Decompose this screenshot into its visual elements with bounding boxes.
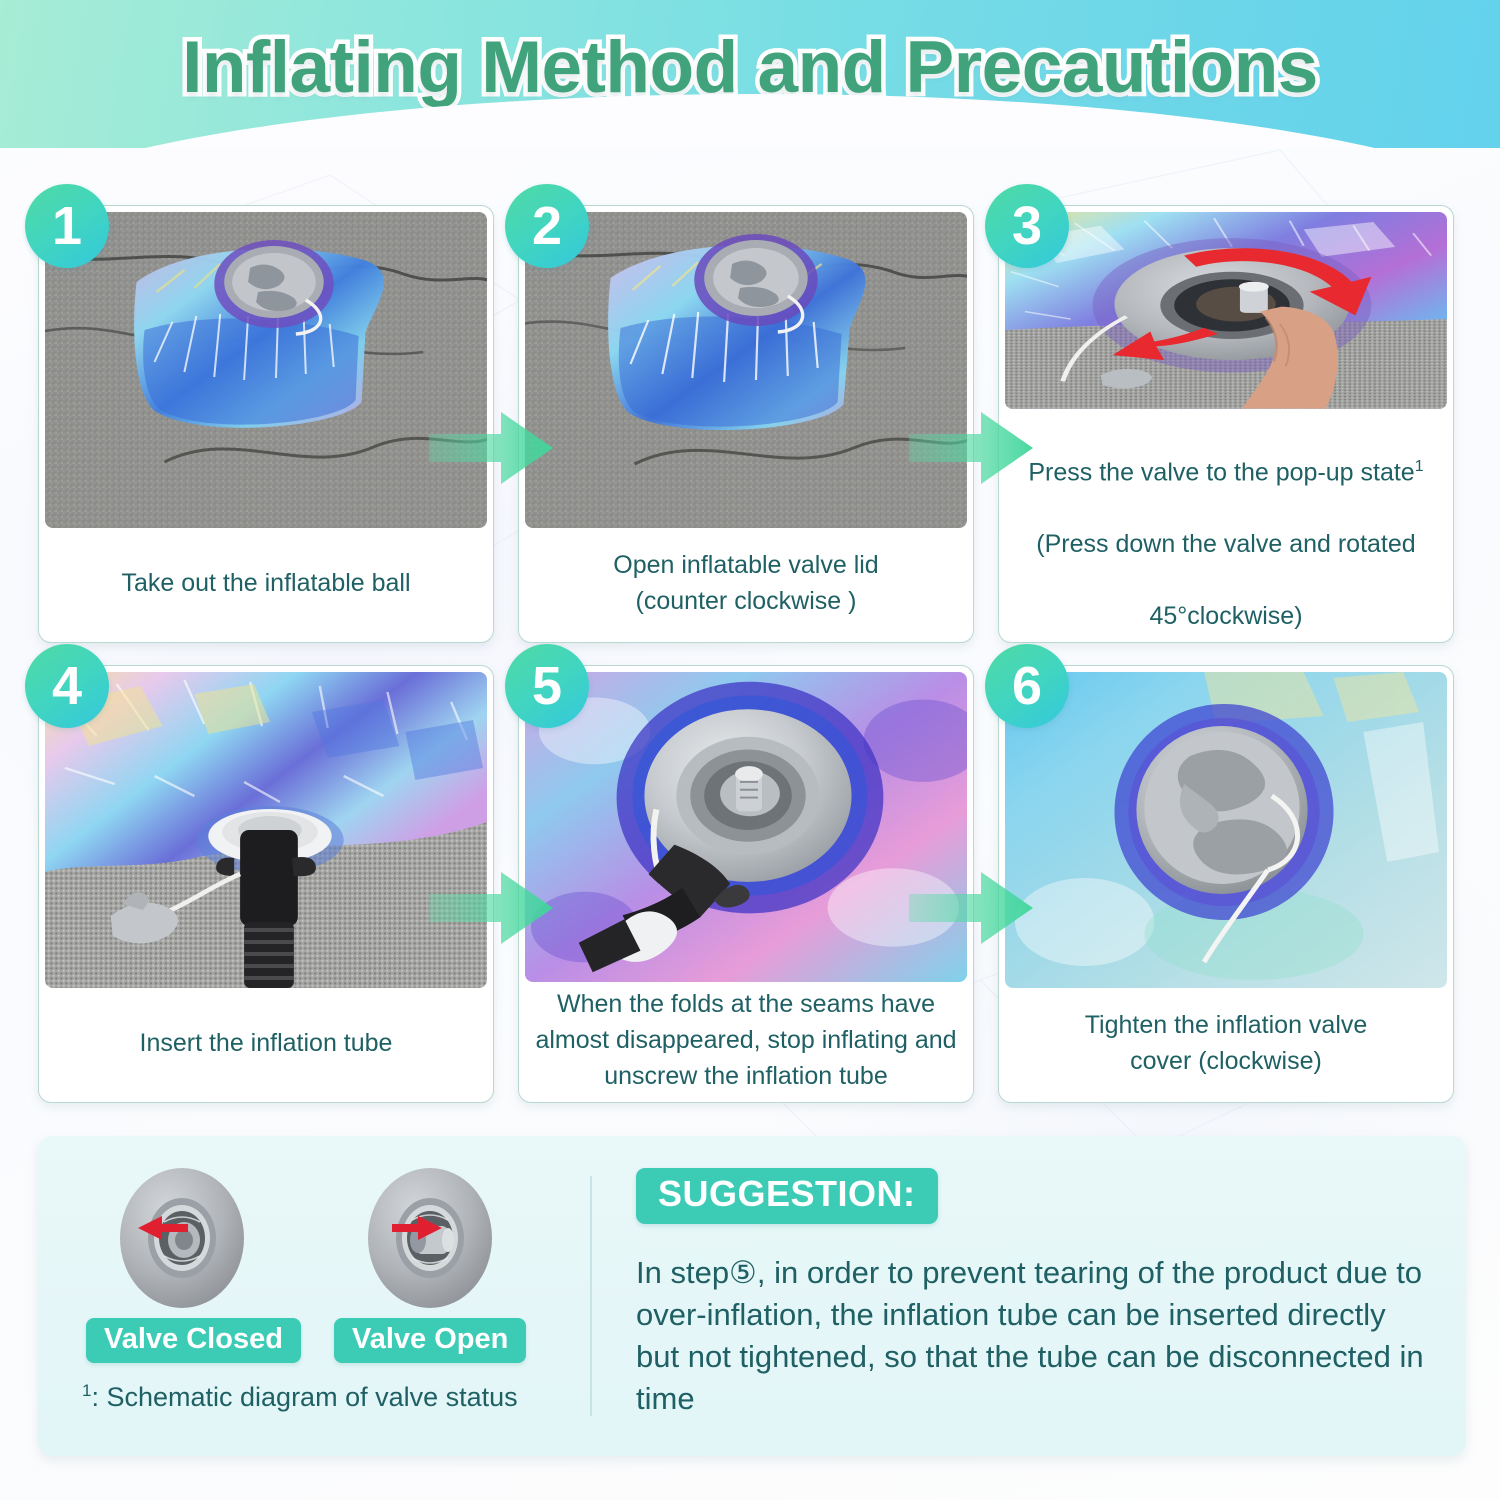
valve-diagrams-row: Valve Closed [72,1162,570,1363]
valve-status-section: Valve Closed [38,1136,590,1456]
step-photo-5 [525,672,967,982]
step-badge-5: 5 [505,644,589,728]
step-card-1[interactable]: 1 [38,205,494,643]
suggestion-body: In step⑤, in order to prevent tearing of… [636,1252,1428,1420]
valve-footnote: 1: Schematic diagram of valve status [72,1381,570,1413]
step-caption-5: When the folds at the seams have almost … [519,982,973,1102]
step-caption-3: Press the valve to the pop-up state1 (Pr… [999,409,1453,642]
step-card-2[interactable]: 2 [518,205,974,643]
page-header: Inflating Method and Precautions [0,0,1500,148]
valve-closed-diagram-icon [86,1162,278,1314]
step-card-4[interactable]: 4 [38,665,494,1103]
step-photo-3 [1005,212,1447,409]
step-card-6[interactable]: 6 [998,665,1454,1103]
step-photo-4 [45,672,487,988]
step-caption-1: Take out the inflatable ball [39,528,493,642]
step-badge-6: 6 [985,644,1069,728]
step-caption-3-line1: Press the valve to the pop-up state [1028,458,1414,486]
step-photo-6 [1005,672,1447,988]
step-badge-2: 2 [505,184,589,268]
step-caption-3-line3: 45°clockwise) [1149,602,1302,630]
step-badge-3: 3 [985,184,1069,268]
valve-open-diagram-icon [334,1162,526,1314]
valve-footnote-text: : Schematic diagram of valve status [91,1382,517,1412]
valve-open-label: Valve Open [334,1318,526,1363]
step-card-3[interactable]: 3 [998,205,1454,643]
valve-closed-group: Valve Closed [86,1162,278,1363]
step-card-5[interactable]: 5 [518,665,974,1103]
steps-grid: 1 [38,205,1466,1103]
step-photo-1 [45,212,487,528]
step-caption-4: Insert the inflation tube [39,988,493,1102]
valve-closed-label: Valve Closed [86,1318,301,1363]
step-badge-4: 4 [25,644,109,728]
valve-open-group: Valve Open [334,1162,526,1363]
step-caption-2: Open inflatable valve lid (counter clock… [519,528,973,642]
step-caption-3-line2: (Press down the valve and rotated [1036,530,1415,558]
suggestion-title: SUGGESTION: [636,1168,938,1224]
step-photo-2 [525,212,967,528]
suggestion-section: SUGGESTION: In step⑤, in order to preven… [592,1136,1466,1456]
step-caption-6: Tighten the inflation valve cover (clock… [999,988,1453,1102]
step-badge-1: 1 [25,184,109,268]
step-caption-3-footnote-marker: 1 [1415,458,1424,475]
suggestion-panel: Valve Closed [38,1136,1466,1456]
